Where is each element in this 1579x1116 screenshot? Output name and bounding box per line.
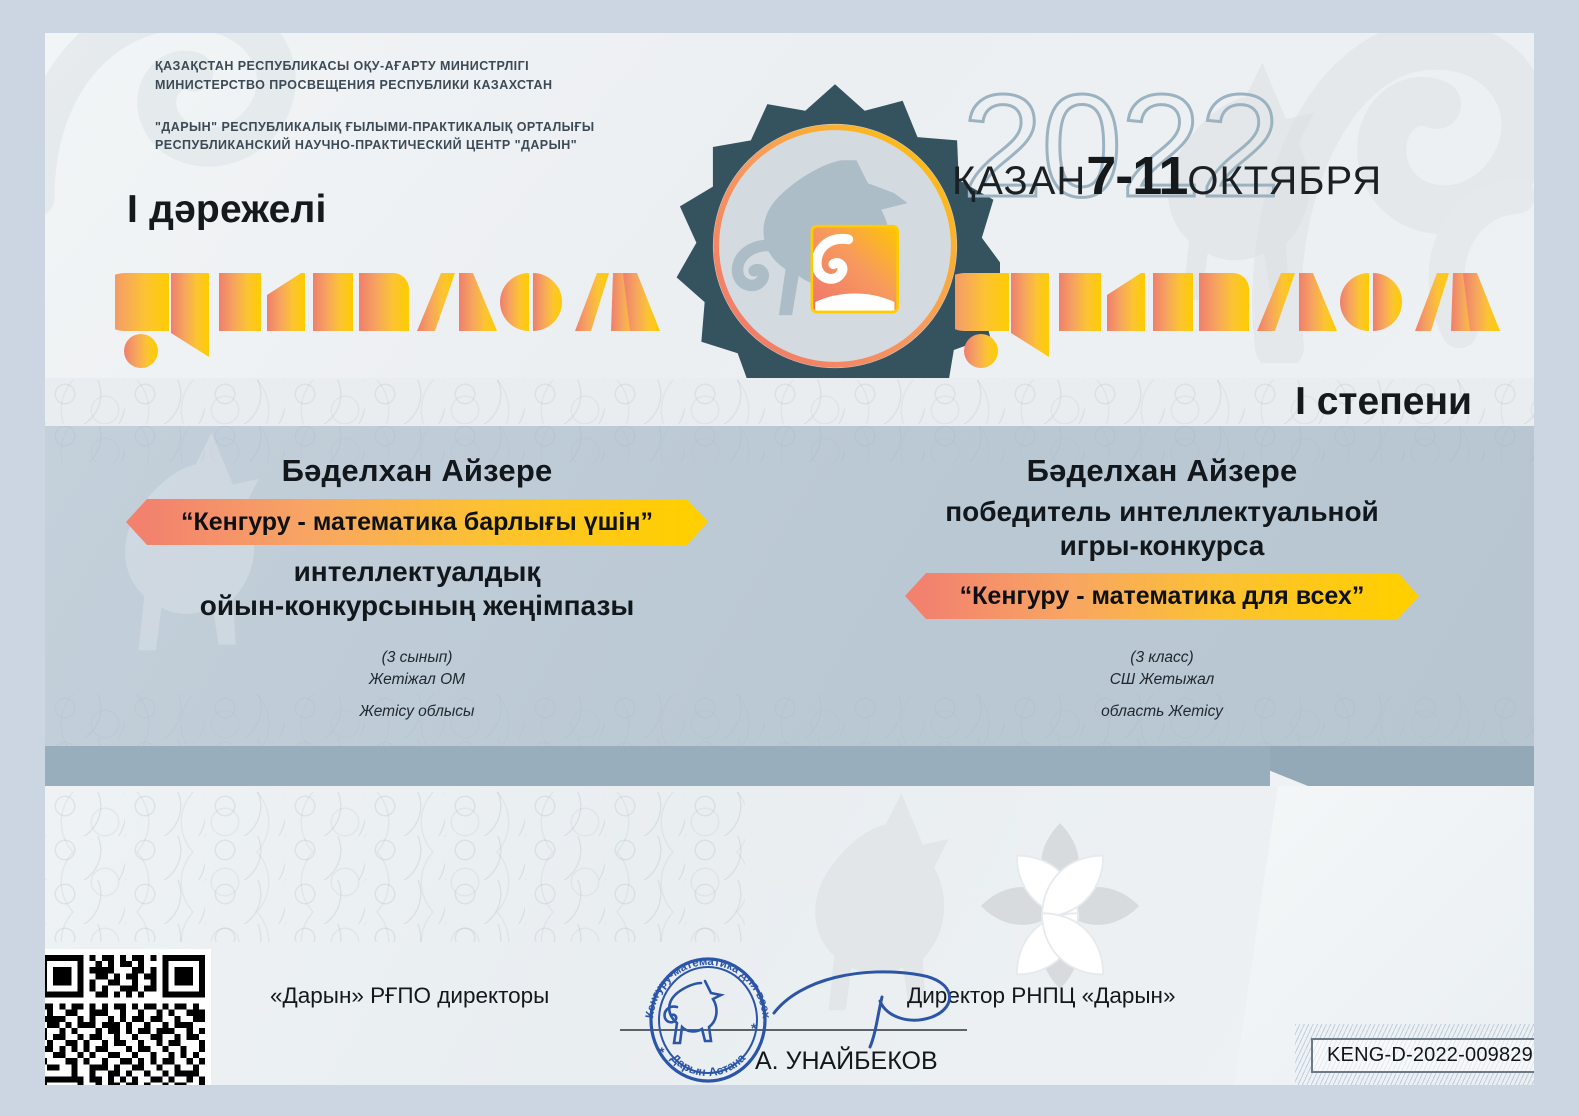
- stamp-kangaroo-icon: [665, 981, 721, 1043]
- contest-ribbon-kz: “Кенгуру - математика барлығы үшін”: [147, 499, 687, 545]
- ministry-ru: МИНИСТЕРСТВО ПРОСВЕЩЕНИЯ РЕСПУБЛИКИ КАЗА…: [155, 78, 552, 92]
- ministry-kz: ҚАЗАҚСТАН РЕСПУБЛИКАСЫ ОҚУ-АҒАРТУ МИНИСТ…: [155, 59, 529, 73]
- degree-label-ru: I степени: [1295, 380, 1472, 424]
- signature-title-kz: «Дарын» РҒПО директоры: [270, 983, 549, 1009]
- month-ru: ОКТЯБРЯ: [1187, 159, 1382, 203]
- recipient-school-kz: Жетіжал ОМ: [45, 671, 789, 689]
- kangaroo-emblem: [670, 81, 1000, 378]
- official-stamp: Кенгуру-математика для всех Дарын-Астана…: [633, 945, 783, 1085]
- certificate-id-box: KENG-D-2022-009829: [1311, 1038, 1534, 1073]
- divider-band: [45, 746, 1270, 786]
- recipient-name-ru: Бәделхан Айзере: [790, 453, 1534, 489]
- handwritten-signature: [770, 961, 970, 1051]
- rosette-watermark: [945, 816, 1175, 996]
- month-kz: ҚАЗАН: [952, 159, 1086, 203]
- svg-text:*: *: [659, 1044, 665, 1060]
- qr-code[interactable]: [45, 949, 211, 1085]
- recipient-grade-kz: (3 сынып): [45, 649, 789, 667]
- divider-band-tab: [1270, 746, 1534, 786]
- emblem-square: [812, 226, 898, 312]
- middle-panel: Бәделхан Айзере “Кенгуру - математика ба…: [45, 426, 1534, 746]
- diplom-wordmark-ru: [955, 255, 1500, 373]
- ornament-texture-bottom: [45, 792, 745, 942]
- diplom-wordmark-kz: [115, 255, 660, 373]
- contest-ribbon-ru: “Кенгуру - математика для всех”: [926, 573, 1399, 619]
- recipient-region-ru: область Жетісу: [790, 703, 1534, 721]
- svg-text:*: *: [751, 1020, 757, 1036]
- event-date-block: 2022 ҚАЗАН7-11ОКТЯБРЯ: [952, 85, 1382, 235]
- certificate-id: KENG-D-2022-009829: [1327, 1044, 1533, 1066]
- center-ru: РЕСПУБЛИКАНСКИЙ НАУЧНО-ПРАКТИЧЕСКИЙ ЦЕНТ…: [155, 138, 577, 152]
- date-days: 7-11: [1086, 146, 1187, 206]
- recipient-name-kz: Бәделхан Айзере: [45, 453, 789, 489]
- recipient-grade-ru: (3 класс): [790, 649, 1534, 667]
- certificate-frame: ҚАЗАҚСТАН РЕСПУБЛИКАСЫ ОҚУ-АҒАРТУ МИНИСТ…: [0, 0, 1579, 1116]
- recipient-region-kz: Жетісу облысы: [45, 703, 789, 721]
- recipient-desc-ru-line1: победитель интеллектуальной: [790, 495, 1534, 529]
- recipient-column-ru: Бәделхан Айзере победитель интеллектуаль…: [790, 426, 1534, 721]
- recipient-school-ru: СШ Жетыжал: [790, 671, 1534, 689]
- date-line: ҚАЗАН7-11ОКТЯБРЯ: [952, 145, 1382, 207]
- degree-label-kz: I дәрежелі: [127, 188, 327, 232]
- recipient-desc-kz-line2: ойын-конкурсының жеңімпазы: [45, 589, 789, 623]
- recipient-column-kz: Бәделхан Айзере “Кенгуру - математика ба…: [45, 426, 789, 721]
- top-panel: ҚАЗАҚСТАН РЕСПУБЛИКАСЫ ОҚУ-АҒАРТУ МИНИСТ…: [45, 33, 1534, 378]
- certificate-sheet: ҚАЗАҚСТАН РЕСПУБЛИКАСЫ ОҚУ-АҒАРТУ МИНИСТ…: [45, 33, 1534, 1085]
- recipient-desc-kz-line1: интеллектуалдық: [45, 555, 789, 589]
- recipient-desc-ru-line2: игры-конкурса: [790, 529, 1534, 563]
- center-kz: "ДАРЫН" РЕСПУБЛИКАЛЫҚ ҒЫЛЫМИ-ПРАКТИКАЛЫҚ…: [155, 120, 595, 134]
